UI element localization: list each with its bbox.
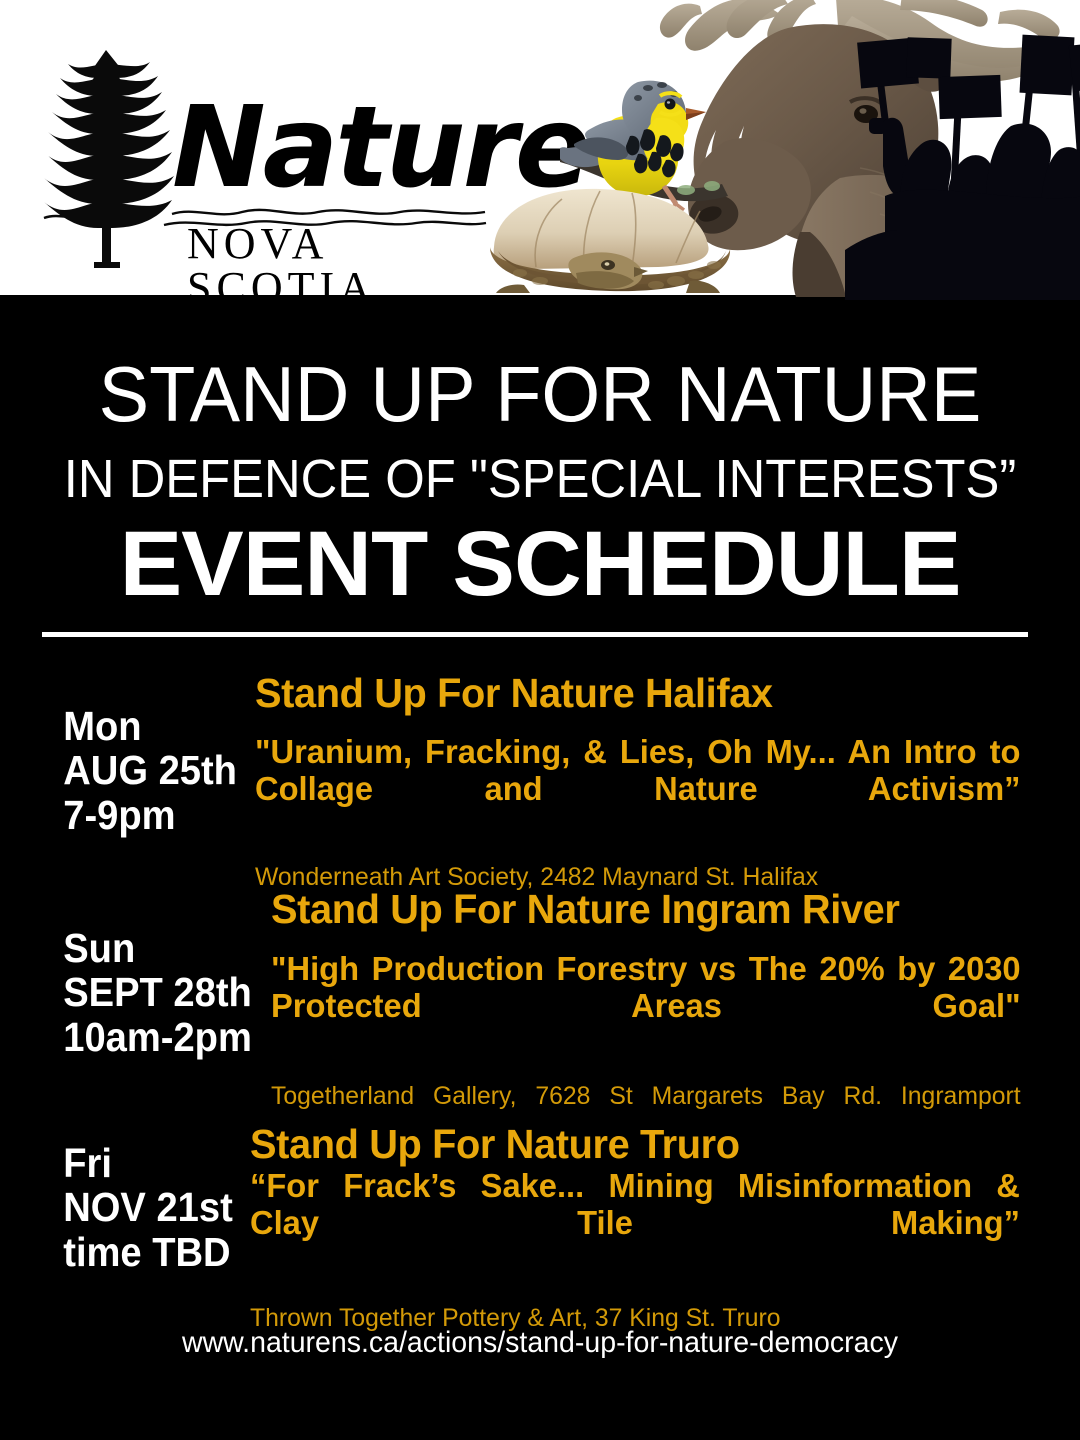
nature-nova-scotia-logo: Nature NOVA SCOTIA (42, 40, 502, 275)
poster-title-line3: EVENT SCHEDULE (0, 518, 1080, 610)
event-date-block: Mon AUG 25th 7-9pm (0, 662, 237, 837)
event-time: time TBD (63, 1230, 233, 1274)
footer-url[interactable]: www.naturens.ca/actions/stand-up-for-nat… (27, 1326, 1053, 1360)
poster-title-line1: STAND UP FOR NATURE (16, 355, 1064, 433)
event-description: "High Production Forestry vs The 20% by … (271, 931, 1021, 1060)
event-date: SEPT 28th (63, 970, 252, 1014)
event-title: Stand Up For Nature Ingram River (271, 874, 1005, 931)
event-venue: Thrown Together Pottery & Art, 37 King S… (250, 1277, 1020, 1333)
event-details: Stand Up For Nature Ingram River "High P… (271, 874, 1080, 1140)
event-day: Sun (63, 926, 252, 970)
event-time: 7-9pm (63, 793, 237, 837)
logo-subtitle: NOVA SCOTIA (187, 222, 502, 310)
event-day: Mon (63, 704, 237, 748)
pine-tree-icon (42, 48, 177, 273)
event-date: AUG 25th (63, 748, 237, 792)
title-divider-rule (42, 632, 1028, 637)
event-schedule-list: Mon AUG 25th 7-9pm Stand Up For Nature H… (0, 662, 1080, 1309)
poster-root: Nature NOVA SCOTIA (0, 0, 1080, 1440)
event-item: Fri NOV 21st time TBD Stand Up For Natur… (0, 1109, 1080, 1309)
snapping-turtle-icon (480, 185, 740, 295)
event-details: Stand Up For Nature Halifax "Uranium, Fr… (255, 662, 1080, 892)
event-details: Stand Up For Nature Truro “For Frack’s S… (250, 1109, 1080, 1333)
event-description: “For Frack’s Sake... Mining Misinformati… (250, 1166, 1020, 1277)
poster-title-line2: IN DEFENCE OF "SPECIAL INTERESTS” (32, 452, 1047, 506)
event-description: "Uranium, Fracking, & Lies, Oh My... An … (255, 715, 1020, 843)
protest-crowd-silhouette-icon (845, 10, 1080, 300)
event-day: Fri (63, 1141, 233, 1185)
event-title: Stand Up For Nature Truro (250, 1109, 1004, 1166)
event-title: Stand Up For Nature Halifax (255, 662, 1005, 715)
event-date: NOV 21st (63, 1185, 233, 1229)
event-item: Sun SEPT 28th 10am-2pm Stand Up For Natu… (0, 874, 1080, 1109)
event-time: 10am-2pm (63, 1015, 252, 1059)
event-date-block: Sun SEPT 28th 10am-2pm (0, 874, 252, 1059)
event-item: Mon AUG 25th 7-9pm Stand Up For Nature H… (0, 662, 1080, 874)
event-date-block: Fri NOV 21st time TBD (0, 1109, 233, 1274)
